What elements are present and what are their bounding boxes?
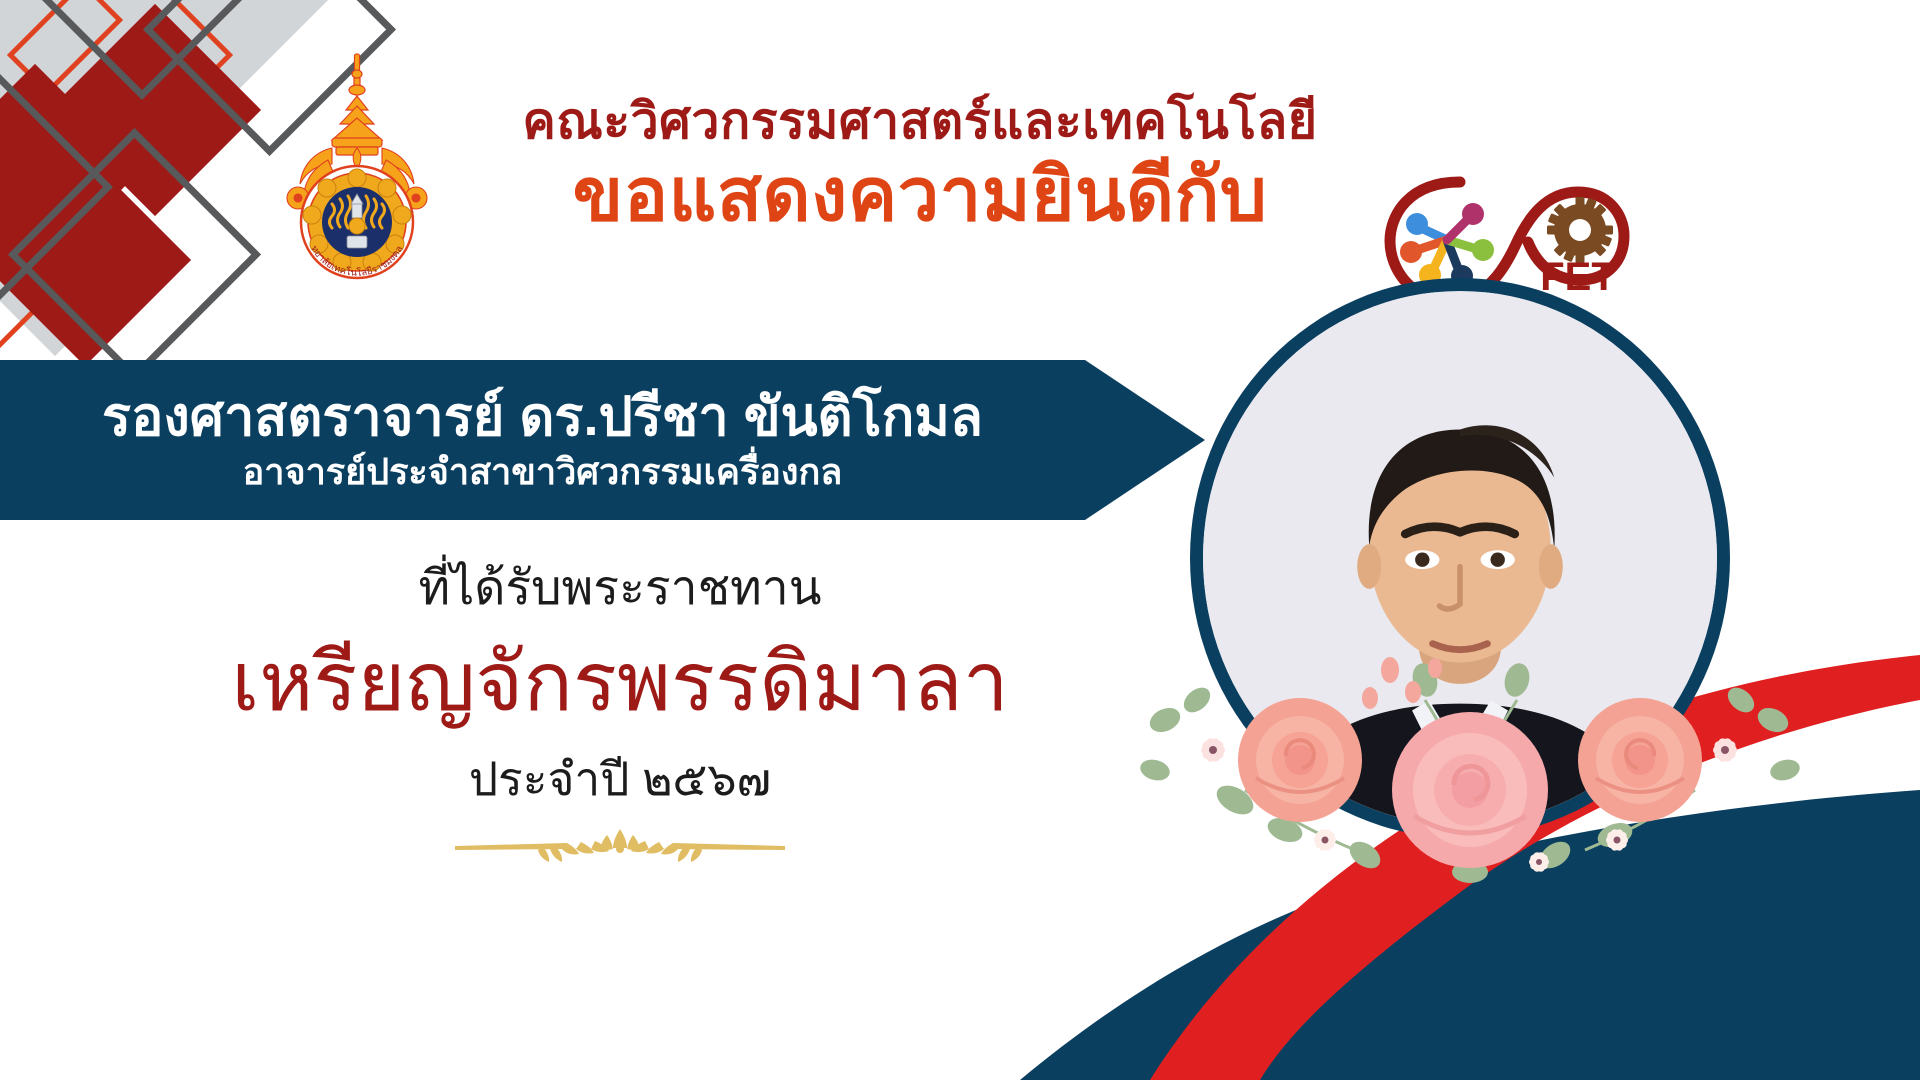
award-text-group: ที่ได้รับพระราชทาน เหรียญจักรพรรดิมาลา ป… (60, 560, 1180, 871)
gold-divider-ornament-icon (455, 825, 785, 871)
award-intro-text: ที่ได้รับพระราชทาน (60, 560, 1180, 618)
portrait-artwork-panel (1020, 0, 1920, 1080)
university-seal-icon: มหาวิทยาลัยเทคโนโลยีราชมงคลอีสาน (262, 52, 452, 282)
honoree-name: รองศาสตราจารย์ ดร.ปรีชา ขันติโกมล (102, 388, 983, 447)
floral-bouquet-decoration (1125, 640, 1815, 910)
award-year-text: ประจำปี ๒๕๖๗ (60, 752, 1180, 807)
award-name-text: เหรียญจักรพรรดิมาลา (60, 632, 1180, 735)
honoree-role: อาจารย์ประจำสาขาวิศวกรรมเครื่องกล (243, 451, 843, 492)
honoree-name-ribbon: รองศาสตราจารย์ ดร.ปรีชา ขันติโกมล อาจารย… (0, 360, 1205, 520)
banner-canvas: มหาวิทยาลัยเทคโนโลยีราชมงคลอีสาน คณะวิศว… (0, 0, 1920, 1080)
